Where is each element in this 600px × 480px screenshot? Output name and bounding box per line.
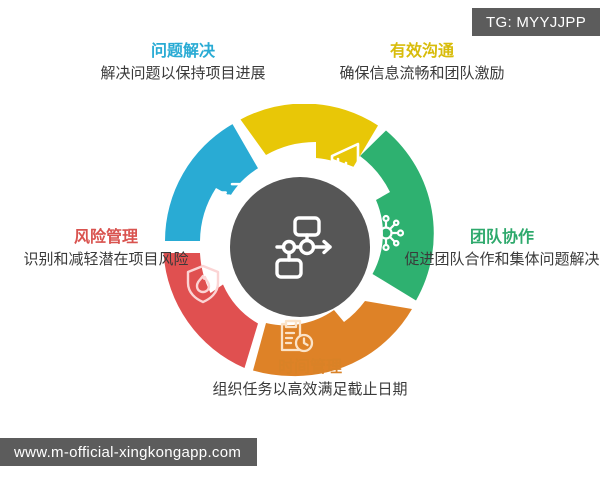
callout-title-risk-management: 风险管理: [8, 228, 204, 248]
callout-desc-effective-communication: 确保信息流畅和团队激励: [318, 64, 526, 83]
segment-arc-green: [360, 131, 434, 301]
callout-desc-risk-management: 识别和减轻潜在项目风险: [8, 250, 204, 269]
callout-title-problem-solving: 问题解决: [76, 42, 290, 62]
segment-team-collaboration[interactable]: [360, 131, 434, 301]
callout-risk-management: 风险管理 识别和减轻潜在项目风险: [8, 228, 204, 270]
callout-desc-team-collaboration: 促进团队合作和集体问题解决: [404, 250, 600, 269]
callout-title-team-collaboration: 团队协作: [404, 228, 600, 248]
callout-desc-problem-solving: 解决问题以保持项目进展: [76, 64, 290, 83]
callout-problem-solving: 问题解决 解决问题以保持项目进展: [76, 42, 290, 84]
callout-team-collaboration: 团队协作 促进团队合作和集体问题解决: [404, 228, 600, 270]
callout-title-time-management: 时间管理: [196, 358, 424, 378]
watermark-top-right: TG: MYYJJPP: [472, 8, 600, 36]
callout-title-effective-communication: 有效沟通: [318, 42, 526, 62]
infographic-canvas: 问题解决 解决问题以保持项目进展 有效沟通 确保信息流畅和团队激励 团队协作 促…: [0, 0, 600, 480]
watermark-bottom-left: www.m-official-xingkongapp.com: [0, 438, 257, 466]
callout-effective-communication: 有效沟通 确保信息流畅和团队激励: [318, 42, 526, 84]
segment-effective-communication[interactable]: [241, 104, 379, 171]
callout-desc-time-management: 组织任务以高效满足截止日期: [196, 380, 424, 399]
callout-time-management: 时间管理 组织任务以高效满足截止日期: [196, 358, 424, 400]
